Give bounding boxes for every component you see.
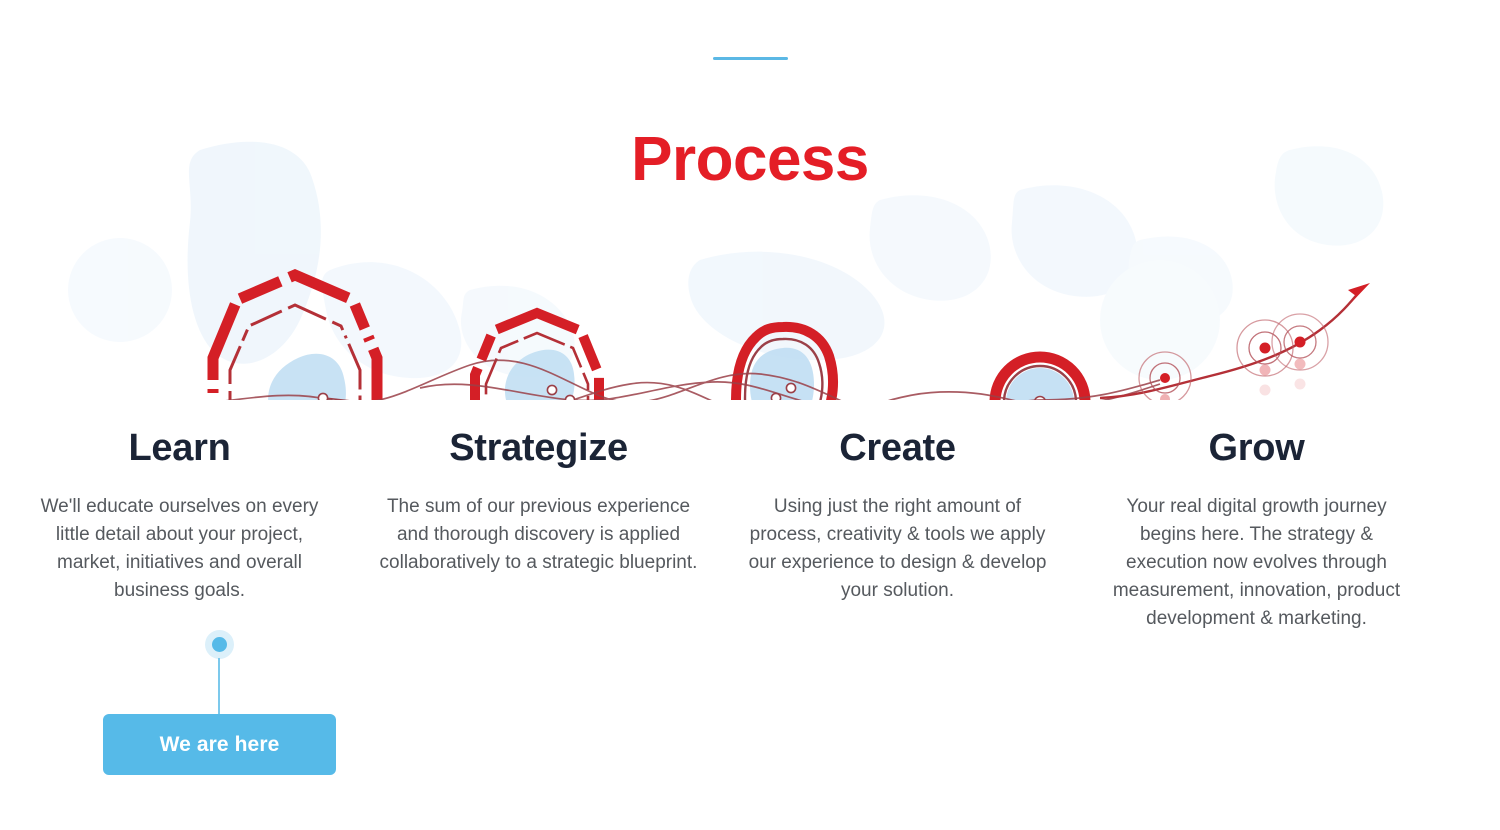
step-title-strategize: Strategize: [449, 425, 628, 471]
step-title-grow: Grow: [1209, 425, 1305, 471]
step-description-grow: Your real digital growth journey begins …: [1107, 493, 1407, 633]
we-are-here-marker: We are here: [103, 630, 336, 780]
process-section: Process: [0, 0, 1500, 830]
step-description-create: Using just the right amount of process, …: [745, 493, 1050, 605]
we-are-here-badge[interactable]: We are here: [103, 714, 336, 775]
process-step-grow: Grow Your real digital growth journey be…: [1077, 425, 1436, 633]
node-create: [736, 327, 833, 400]
node-grow: [995, 357, 1085, 400]
step-description-strategize: The sum of our previous experience and t…: [374, 493, 704, 577]
process-step-strategize: Strategize The sum of our previous exper…: [359, 425, 718, 577]
process-step-learn: Learn We'll educate ourselves on every l…: [0, 425, 359, 605]
process-journey-illustration: [0, 130, 1500, 400]
progress-marker-2: [1237, 320, 1293, 396]
step-title-create: Create: [839, 425, 956, 471]
step-description-learn: We'll educate ourselves on every little …: [24, 493, 336, 605]
process-step-create: Create Using just the right amount of pr…: [718, 425, 1077, 605]
process-steps: Learn We'll educate ourselves on every l…: [0, 425, 1500, 633]
marker-connector-line: [218, 658, 220, 715]
title-divider: [713, 57, 788, 60]
background-blobs: [68, 142, 1383, 380]
step-title-learn: Learn: [129, 425, 231, 471]
marker-dot-icon: [212, 637, 227, 652]
